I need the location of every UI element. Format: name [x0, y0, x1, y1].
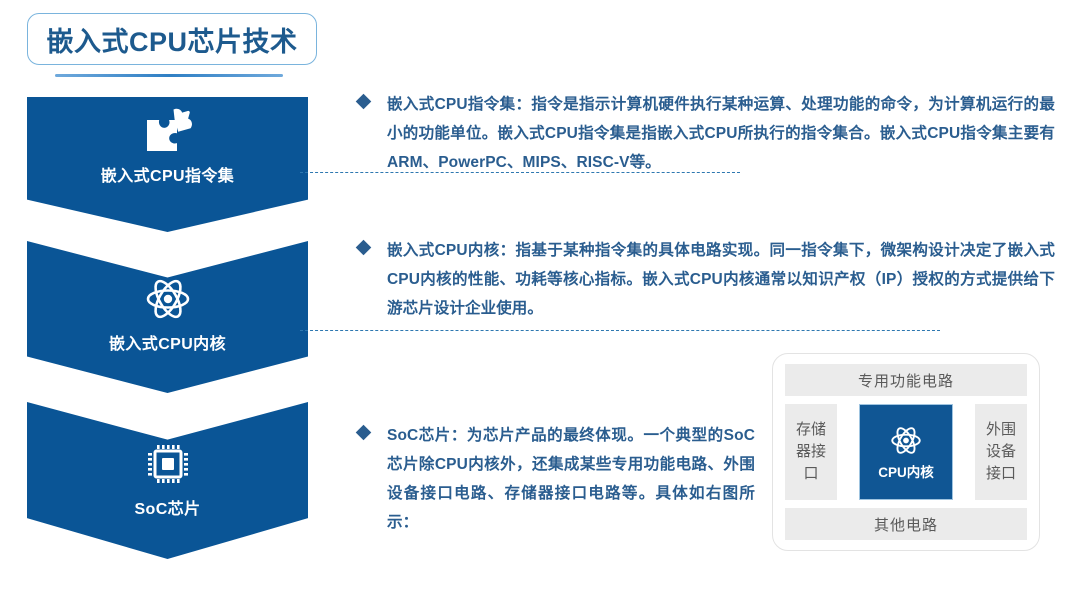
stage-chevron-stack: 嵌入式CPU指令集 嵌入式CPU内核	[27, 97, 308, 559]
title-underline	[55, 74, 283, 77]
puzzle-icon	[143, 107, 193, 155]
title-border-box: 嵌入式CPU芯片技术	[27, 13, 317, 65]
atom-icon	[888, 424, 924, 457]
soc-block-cpu-core: CPU内核	[859, 404, 953, 500]
bullet-text-instruction-set: 嵌入式CPU指令集：指令是指示计算机硬件执行某种运算、处理功能的命令，为计算机运…	[387, 90, 1055, 177]
diamond-bullet-icon	[356, 240, 372, 256]
page-title: 嵌入式CPU芯片技术	[46, 20, 297, 59]
soc-block-memory-interface: 存储器接口	[785, 404, 837, 500]
bullet-text-cpu-core: 嵌入式CPU内核：指基于某种指令集的具体电路实现。同一指令集下，微架构设计决定了…	[387, 236, 1055, 323]
bullet-soc-chip: SoC芯片：为芯片产品的最终体现。一个典型的SoC芯片除CPU内核外，还集成某些…	[358, 421, 758, 537]
soc-architecture-diagram: 专用功能电路 存储器接口 CPU内核 外围设备接口 其他电路	[772, 353, 1040, 551]
soc-middle-row: 存储器接口 CPU内核 外围设备接口	[785, 404, 1027, 500]
bullet-instruction-set: 嵌入式CPU指令集：指令是指示计算机硬件执行某种运算、处理功能的命令，为计算机运…	[358, 90, 1058, 177]
soc-block-other-circuit: 其他电路	[785, 508, 1027, 540]
stage-chevron-cpu-core[interactable]: 嵌入式CPU内核	[27, 241, 308, 393]
page-title-block: 嵌入式CPU芯片技术	[27, 13, 317, 65]
soc-core-label: CPU内核	[878, 461, 934, 481]
stage-chevron-soc-chip[interactable]: SoC芯片	[27, 402, 308, 559]
bullet-text-soc-chip: SoC芯片：为芯片产品的最终体现。一个典型的SoC芯片除CPU内核外，还集成某些…	[387, 421, 755, 537]
bullet-cpu-core: 嵌入式CPU内核：指基于某种指令集的具体电路实现。同一指令集下，微架构设计决定了…	[358, 236, 1058, 323]
diamond-bullet-icon	[356, 94, 372, 110]
stage-label-instruction-set: 嵌入式CPU指令集	[101, 162, 234, 186]
soc-block-dedicated-circuit: 专用功能电路	[785, 364, 1027, 396]
stage-label-soc-chip: SoC芯片	[134, 495, 200, 519]
diamond-bullet-icon	[356, 425, 372, 441]
atom-icon	[143, 275, 193, 323]
stage-label-cpu-core: 嵌入式CPU内核	[109, 330, 226, 354]
stage-chevron-instruction-set[interactable]: 嵌入式CPU指令集	[27, 97, 308, 232]
connector-line-cpu-core	[300, 330, 940, 331]
soc-block-peripheral-interface: 外围设备接口	[975, 404, 1027, 500]
chip-icon	[143, 440, 193, 488]
